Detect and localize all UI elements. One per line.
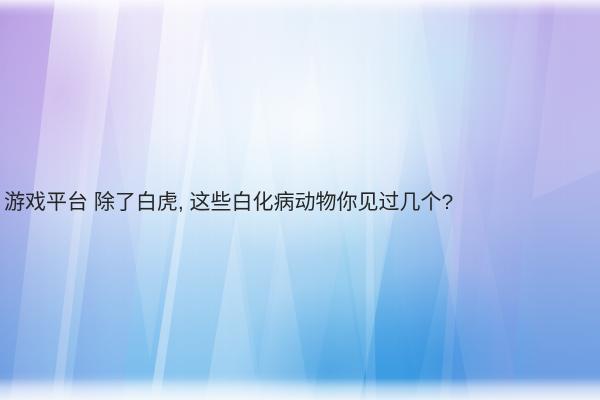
bottom-haze <box>0 378 600 400</box>
headline-container: 游戏平台 除了白虎, 这些白化病动物你见过几个? <box>0 186 600 220</box>
article-banner: 游戏平台 除了白虎, 这些白化病动物你见过几个? <box>0 0 600 400</box>
page-title: 游戏平台 除了白虎, 这些白化病动物你见过几个? <box>4 186 596 220</box>
top-haze <box>0 0 600 16</box>
